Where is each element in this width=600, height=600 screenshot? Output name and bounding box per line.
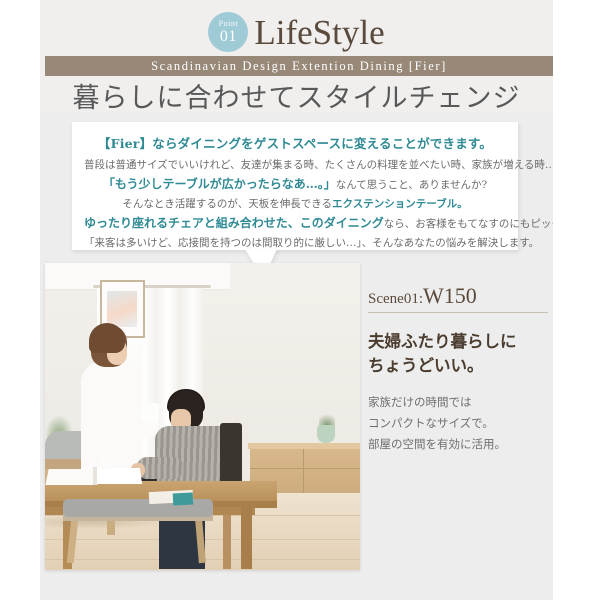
page-left-margin (0, 0, 40, 600)
scene-description-line-2: コンパクトなサイズで。 (368, 413, 548, 434)
description-callout: 【Fier】ならダイニングをゲストスペースに変えることができます。 普段は普通サ… (72, 122, 518, 250)
main-headline: 暮らしに合わせてスタイルチェンジ (40, 76, 553, 114)
room-photo (45, 263, 360, 570)
advertisement-page: Point 01 LifeStyle Scandinavian Design E… (0, 0, 600, 600)
header-section: Point 01 LifeStyle Scandinavian Design E… (40, 0, 553, 112)
callout-line-2: 「もう少しテーブルが広かったらなあ…。」なんて思うこと、ありませんか? (84, 175, 506, 195)
page-title: LifeStyle (254, 15, 384, 50)
photo-sideboard-seam-h (250, 468, 360, 469)
scene-heading-line-1: 夫婦ふたり暮らしに (368, 330, 548, 354)
scene-description: 家族だけの時間では コンパクトなサイズで。 部屋の空間を有効に活用。 (368, 392, 548, 455)
page-right-margin (553, 0, 600, 600)
photo-table-cup (100, 451, 113, 469)
photo-bench-book (173, 492, 194, 505)
photo-woman-hair (89, 323, 125, 353)
scene-heading-line-2: ちょうどいい。 (368, 354, 548, 378)
callout-line-4: ゆったり座れるチェアと組み合わせた、このダイニングなら、お客様をもてなすのにもピ… (84, 214, 506, 234)
scene-description-line-3: 部屋の空間を有効に活用。 (368, 434, 548, 455)
photo-woman-cup (141, 403, 159, 423)
point-badge: Point 01 (208, 12, 248, 52)
point-badge-number: 01 (220, 29, 237, 45)
scene-description-line-1: 家族だけの時間では (368, 392, 548, 413)
callout-line-3-highlight: エクステンションテーブル。 (332, 198, 468, 210)
point-badge-word: Point (219, 20, 238, 28)
photo-table-leg-2 (241, 507, 252, 569)
photo-sideboard-top (248, 443, 360, 449)
photo-bench-brace (107, 519, 115, 535)
callout-line-1: 普段は普通サイズでいいけれど、友達が集まる時、たくさんの料理を並べたい時、家族が… (84, 156, 506, 175)
callout-line-3-plain: そんなとき活躍するのが、天板を伸長できる (122, 198, 332, 210)
callout-line-3: そんなとき活躍するのが、天板を伸長できるエクステンションテーブル。 (84, 195, 506, 214)
photo-plant-pot (317, 425, 335, 443)
photo-open-book-right-page (94, 468, 142, 484)
callout-line-4-highlight: ゆったり座れるチェアと組み合わせた、このダイニング (84, 216, 384, 230)
callout-line-2-rest: なんて思うこと、ありませんか? (336, 179, 487, 191)
photo-chair-leg-1 (223, 513, 231, 569)
callout-line-2-highlight: 「もう少しテーブルが広かったらなあ…。」 (103, 177, 336, 191)
point-title-row: Point 01 LifeStyle (40, 8, 553, 56)
scene-info-block: Scene01:W150 夫婦ふたり暮らしに ちょうどいい。 家族だけの時間では… (368, 283, 548, 455)
scene-heading: 夫婦ふたり暮らしに ちょうどいい。 (368, 330, 548, 378)
scene-label-prefix: Scene01: (368, 291, 423, 307)
callout-line-5: 「来客は多いけど、応接間を持つのは間取り的に厳しい…」、そんなあなたの悩みを解決… (84, 234, 506, 253)
callout-lead-text: 【Fier】ならダイニングをゲストスペースに変えることができます。 (84, 132, 506, 156)
subtitle-band: Scandinavian Design Extention Dining [Fi… (45, 56, 553, 76)
photo-wall-art (107, 291, 137, 327)
scene-label-size: W150 (423, 283, 477, 308)
photo-open-book-spine (93, 467, 97, 485)
scene-size-label: Scene01:W150 (368, 283, 548, 313)
